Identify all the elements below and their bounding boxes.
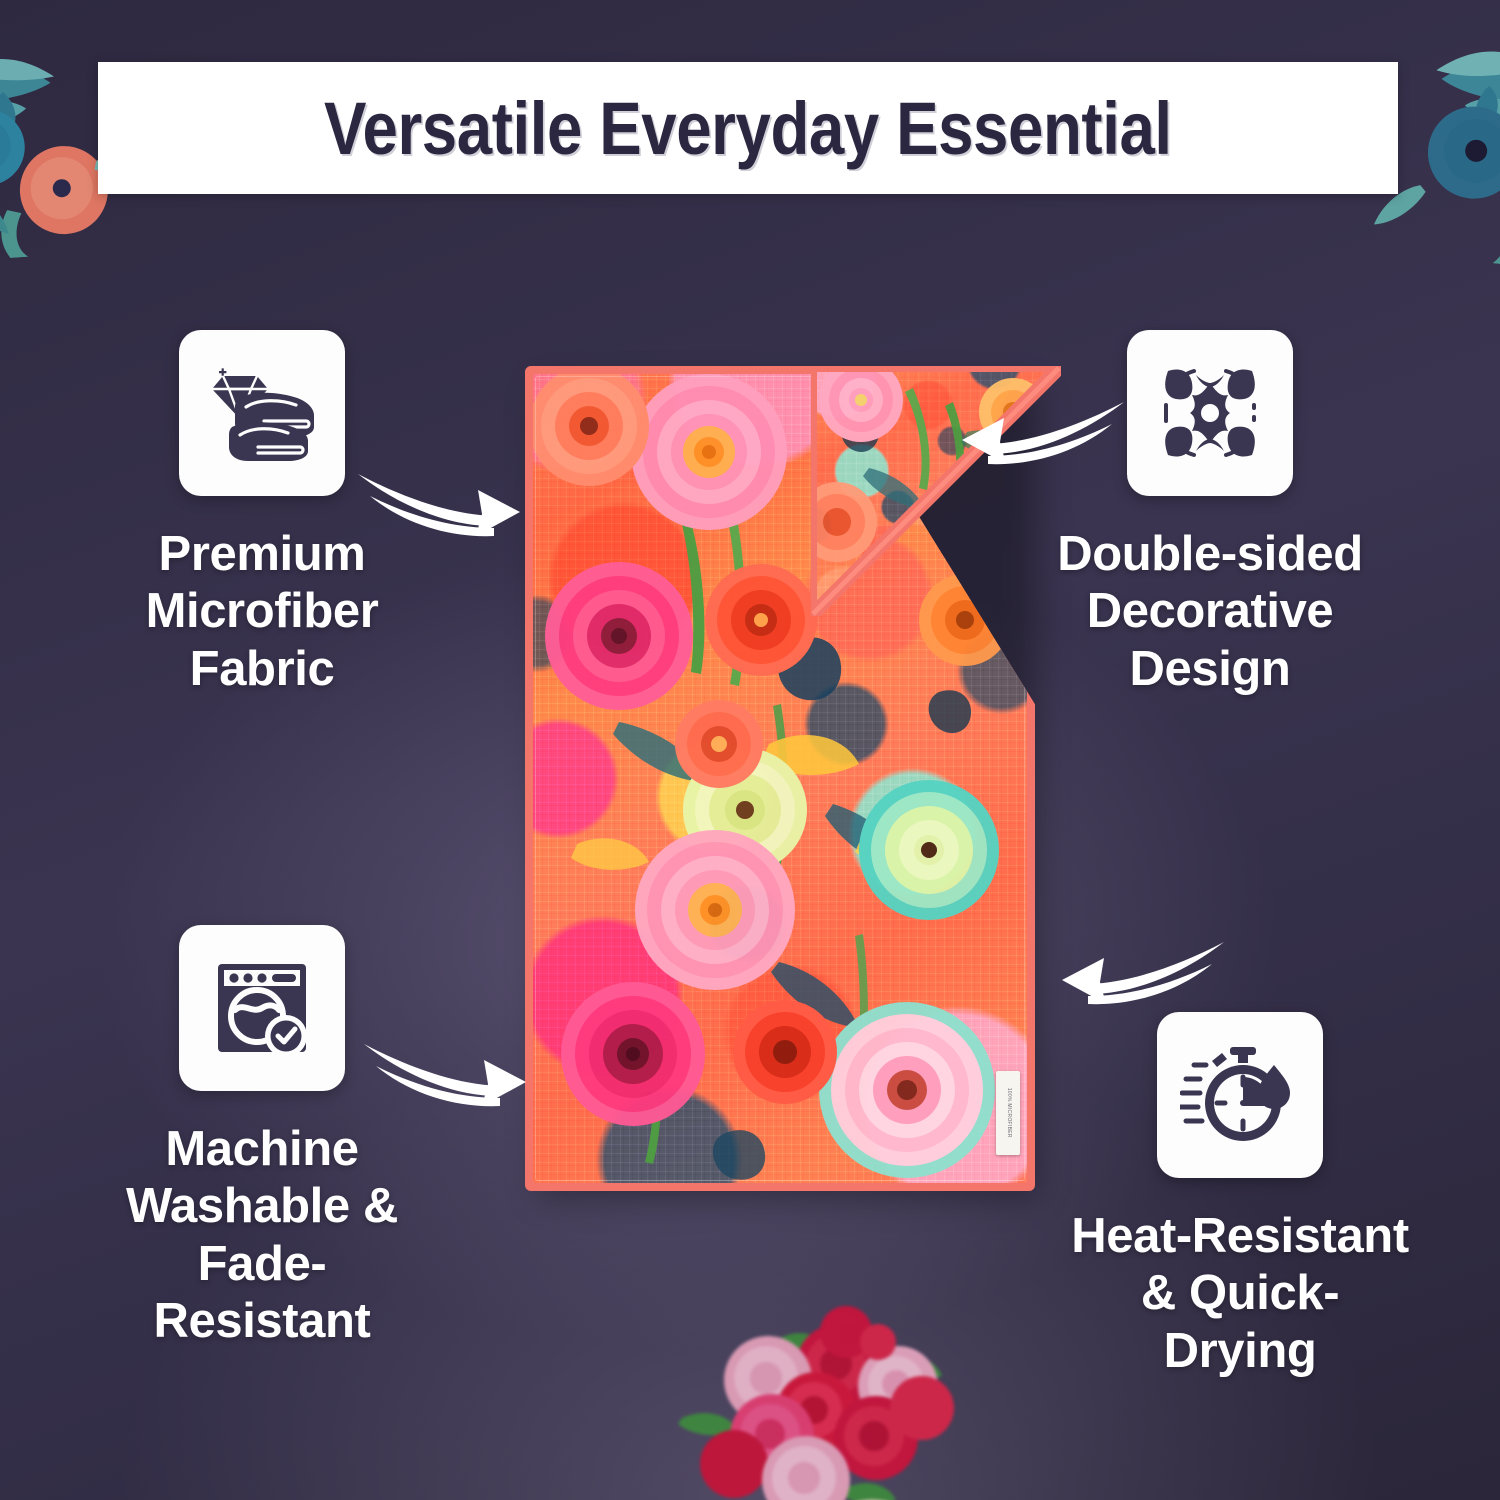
floral-mandala-icon [1150,353,1270,473]
title-banner: Versatile Everyday Essential [98,62,1398,194]
feature-heat-resistant[interactable]: Heat-Resistant & Quick-Drying [1070,1012,1410,1380]
feature-label-line: Microfiber [146,583,379,640]
feature-label-line: Heat-Resistant [1070,1208,1410,1265]
icon-tile-heat-resistant [1157,1012,1323,1178]
feature-label-heat-resistant: Heat-Resistant & Quick-Drying [1070,1208,1410,1380]
feature-label-line: & Quick-Drying [1070,1265,1410,1380]
curved-arrow-left-heat-resistant [1040,920,1230,1020]
feature-label-line: Fabric [146,641,379,698]
feature-label-line: Washable & [92,1178,432,1235]
feature-double-sided-design[interactable]: Double-sided Decorative Design [1040,330,1380,698]
feature-label-premium: Premium Microfiber Fabric [146,526,379,698]
infographic-canvas: Versatile Everyday Essential [0,0,1500,1500]
feature-label-line: Double-sided [1057,526,1363,583]
feature-label-double-sided: Double-sided Decorative Design [1057,526,1363,698]
feature-label-line: Premium [146,526,379,583]
icon-tile-double-sided [1127,330,1293,496]
page-title: Versatile Everyday Essential [324,86,1172,171]
care-label-tag: 100% MICROFIBER [996,1071,1020,1155]
feature-machine-washable[interactable]: Machine Washable & Fade-Resistant [92,925,432,1350]
icon-tile-premium [179,330,345,496]
washing-machine-check-icon [202,948,322,1068]
feature-label-line: Fade-Resistant [92,1236,432,1351]
diamond-towels-icon [202,353,322,473]
feature-label-line: Decorative [1057,583,1363,640]
feature-premium-microfiber[interactable]: Premium Microfiber Fabric [92,330,432,698]
feature-label-line: Machine [92,1121,432,1178]
product-image-towel: 100% MICROFIBER [525,366,1035,1191]
stopwatch-droplet-icon [1180,1035,1300,1155]
feature-label-washable: Machine Washable & Fade-Resistant [92,1121,432,1350]
icon-tile-washable [179,925,345,1091]
floral-bottom-center-decoration [660,1268,960,1500]
feature-label-line: Design [1057,641,1363,698]
